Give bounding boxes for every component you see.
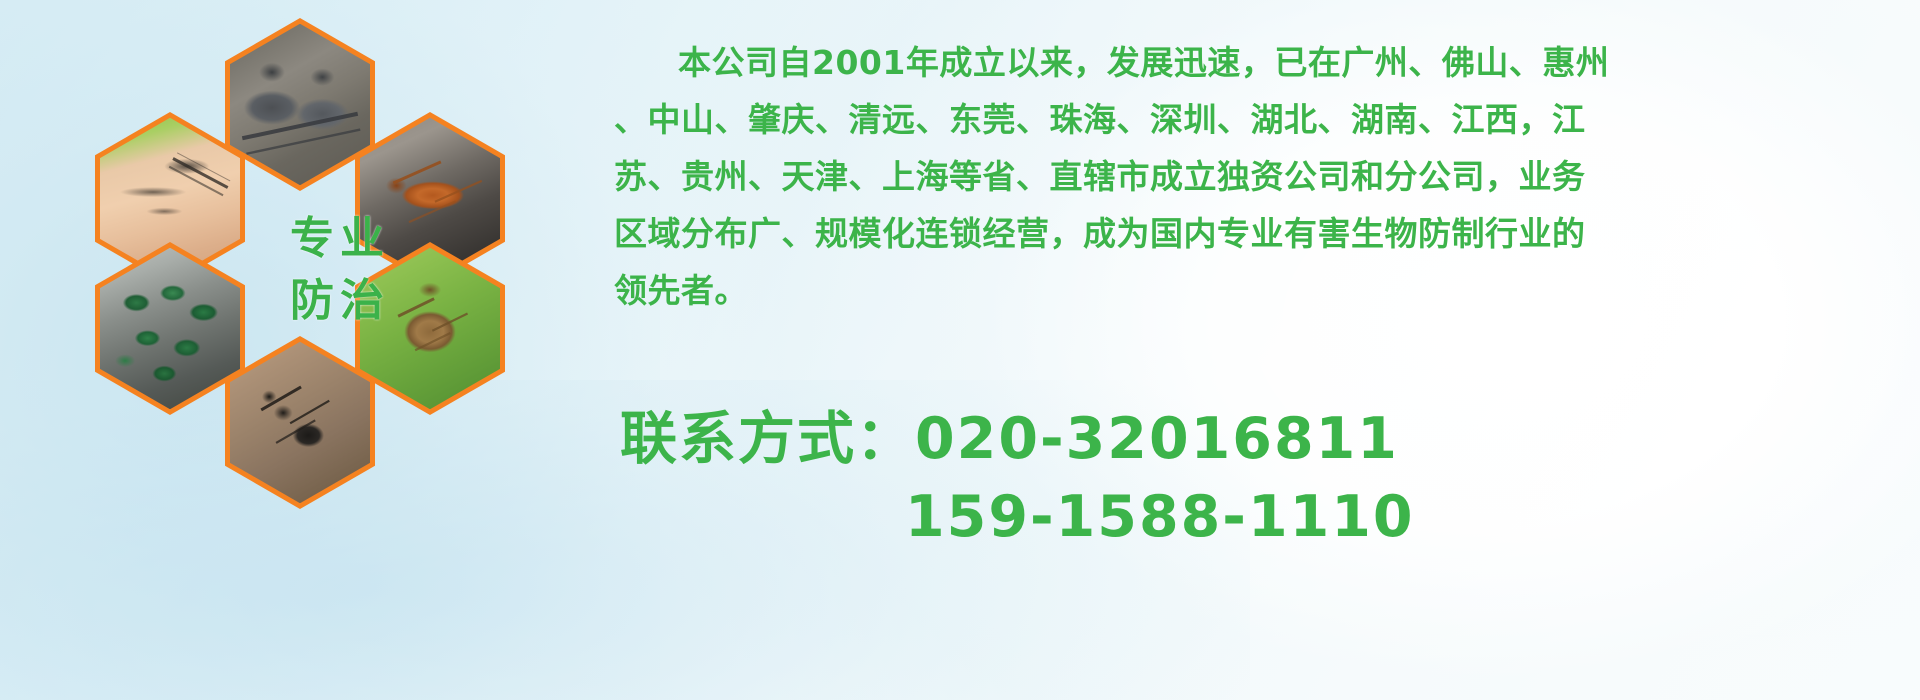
hex-photo-rats[interactable] (225, 18, 375, 191)
hex-photo-flies[interactable] (95, 242, 245, 415)
intro-line: 、中山、肇庆、清远、东莞、珠海、深圳、湖北、湖南、江西，江 (614, 91, 1909, 148)
logo-slogan-line-2: 防治 (264, 270, 416, 332)
intro-copy-block: 本公司自2001年成立以来，发展迅速，已在广州、佛山、惠州 、中山、肇庆、清远、… (614, 34, 1909, 319)
contact-phone-primary[interactable]: 020-32016811 (915, 406, 1399, 472)
promo-banner: 专业 防治 本公司自2001年成立以来，发展迅速，已在广州、佛山、惠州 、中山、… (0, 0, 1920, 700)
intro-line: 区域分布广、规模化连锁经营，成为国内专业有害生物防制行业的 (614, 205, 1909, 262)
hex-inner (230, 24, 370, 185)
contact-label: 联系方式： (620, 406, 915, 472)
hex-inner (100, 248, 240, 409)
intro-line: 本公司自2001年成立以来，发展迅速，已在广州、佛山、惠州 (614, 34, 1909, 91)
honeycomb-image-cluster: 专业 防治 (95, 18, 585, 563)
intro-line: 苏、贵州、天津、上海等省、直辖市成立独资公司和分公司，业务 (614, 148, 1909, 205)
logo-slogan-line-1: 专业 (264, 208, 416, 270)
hex-photo-ant[interactable] (225, 336, 375, 509)
contact-primary-line[interactable]: 联系方式：020-32016811 (620, 400, 1920, 478)
rats-photo (230, 24, 370, 185)
intro-paragraph: 本公司自2001年成立以来，发展迅速，已在广州、佛山、惠州 、中山、肇庆、清远、… (614, 34, 1909, 319)
logo-slogan: 专业 防治 (264, 208, 416, 332)
contact-block: 联系方式：020-32016811 159-1588-1110 (620, 400, 1920, 556)
contact-phone-secondary[interactable]: 159-1588-1110 (620, 478, 1920, 556)
flies-photo (100, 248, 240, 409)
ant-photo (230, 342, 370, 503)
intro-line: 领先者。 (614, 262, 1909, 319)
hex-inner (230, 342, 370, 503)
